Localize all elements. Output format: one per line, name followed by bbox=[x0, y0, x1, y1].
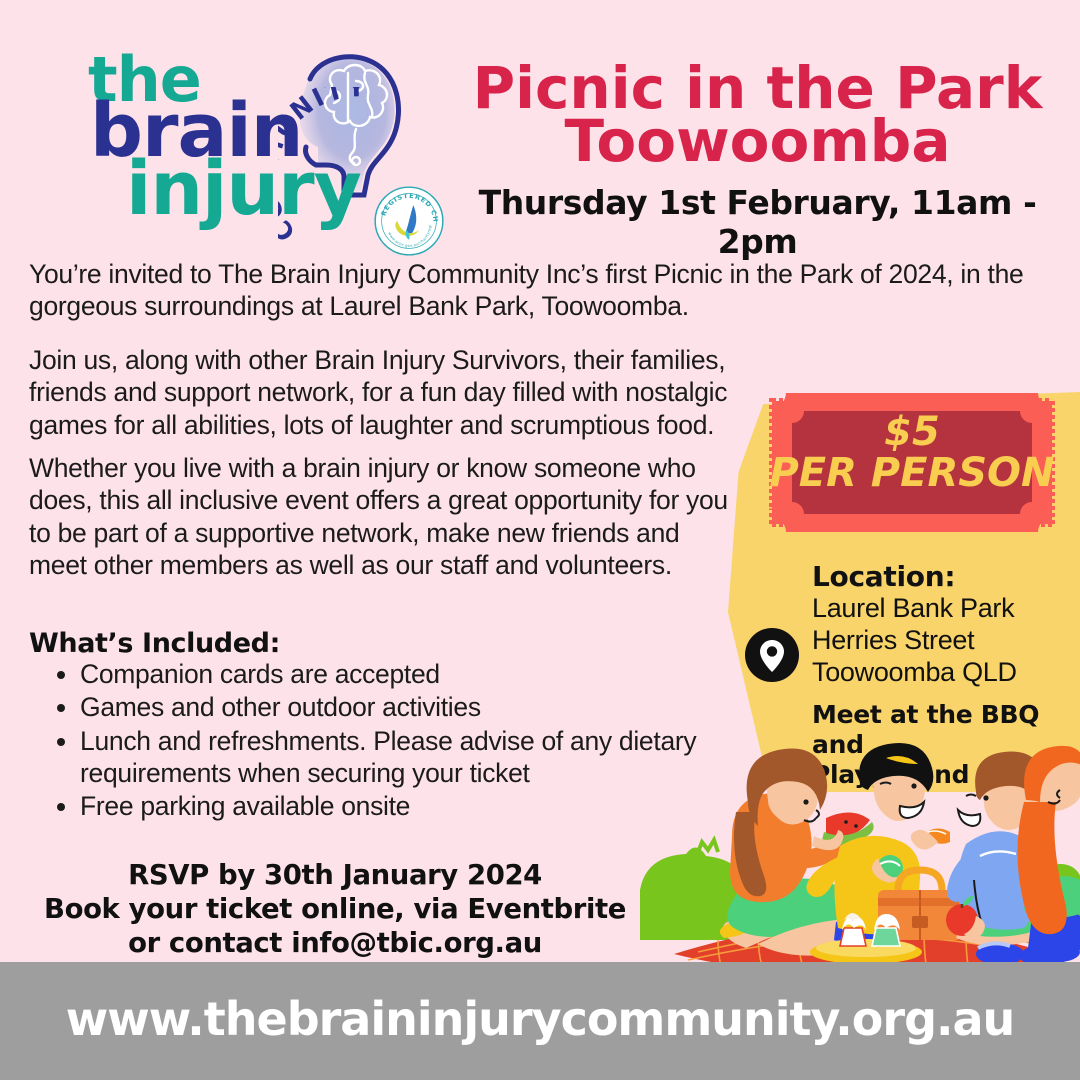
intro-paragraph: You’re invited to The Brain Injury Commu… bbox=[29, 258, 1059, 323]
whats-included-heading: What’s Included: bbox=[29, 628, 280, 659]
rsvp-booking: Book your ticket online, via Eventbrite bbox=[25, 892, 645, 926]
brand-logo: the brain injury COMMUNITY REGISTERED CH… bbox=[88, 55, 448, 245]
location-line-1: Laurel Bank Park bbox=[812, 593, 1062, 625]
rsvp-block: RSVP by 30th January 2024 Book your tick… bbox=[25, 858, 645, 960]
whats-included-list: Companion cards are accepted Games and o… bbox=[40, 658, 700, 824]
ticket-per-person: PER PERSON bbox=[762, 453, 1062, 494]
poster-canvas: the brain injury COMMUNITY REGISTERED CH… bbox=[0, 0, 1080, 1080]
event-title-block: Picnic in the Park Toowoomba Thursday 1s… bbox=[455, 62, 1060, 261]
registered-charity-badge-icon: REGISTERED CHARITY www.acnc.gov.au/chari… bbox=[373, 185, 445, 257]
location-line-3: Toowoomba QLD bbox=[812, 657, 1062, 689]
location-details: Location: Laurel Bank Park Herries Stree… bbox=[812, 560, 1062, 689]
list-item: Games and other outdoor activities bbox=[80, 691, 700, 723]
join-us-paragraph: Join us, along with other Brain Injury S… bbox=[29, 344, 769, 441]
location-line-2: Herries Street bbox=[812, 625, 1062, 657]
list-item: Free parking available onsite bbox=[80, 790, 700, 822]
page-subtitle-location: Toowoomba bbox=[455, 115, 1060, 168]
map-pin-icon bbox=[745, 628, 799, 682]
website-url[interactable]: www.thebraininjurycommunity.org.au bbox=[0, 992, 1080, 1046]
ticket-price-text: $5 PER PERSON bbox=[762, 412, 1062, 494]
event-datetime: Thursday 1st February, 11am - 2pm bbox=[455, 183, 1060, 261]
location-label: Location: bbox=[812, 560, 1062, 593]
rsvp-deadline: RSVP by 30th January 2024 bbox=[25, 858, 645, 892]
list-item: Lunch and refreshments. Please advise of… bbox=[80, 725, 700, 790]
picnic-illustration bbox=[628, 740, 1080, 972]
ticket-price: $5 bbox=[762, 412, 1062, 453]
rsvp-contact[interactable]: or contact info@tbic.org.au bbox=[25, 926, 645, 960]
list-item: Companion cards are accepted bbox=[80, 658, 700, 690]
inclusive-paragraph: Whether you live with a brain injury or … bbox=[29, 452, 729, 581]
arc-text: COMMUNITY bbox=[278, 87, 368, 246]
svg-text:COMMUNITY: COMMUNITY bbox=[278, 87, 368, 246]
